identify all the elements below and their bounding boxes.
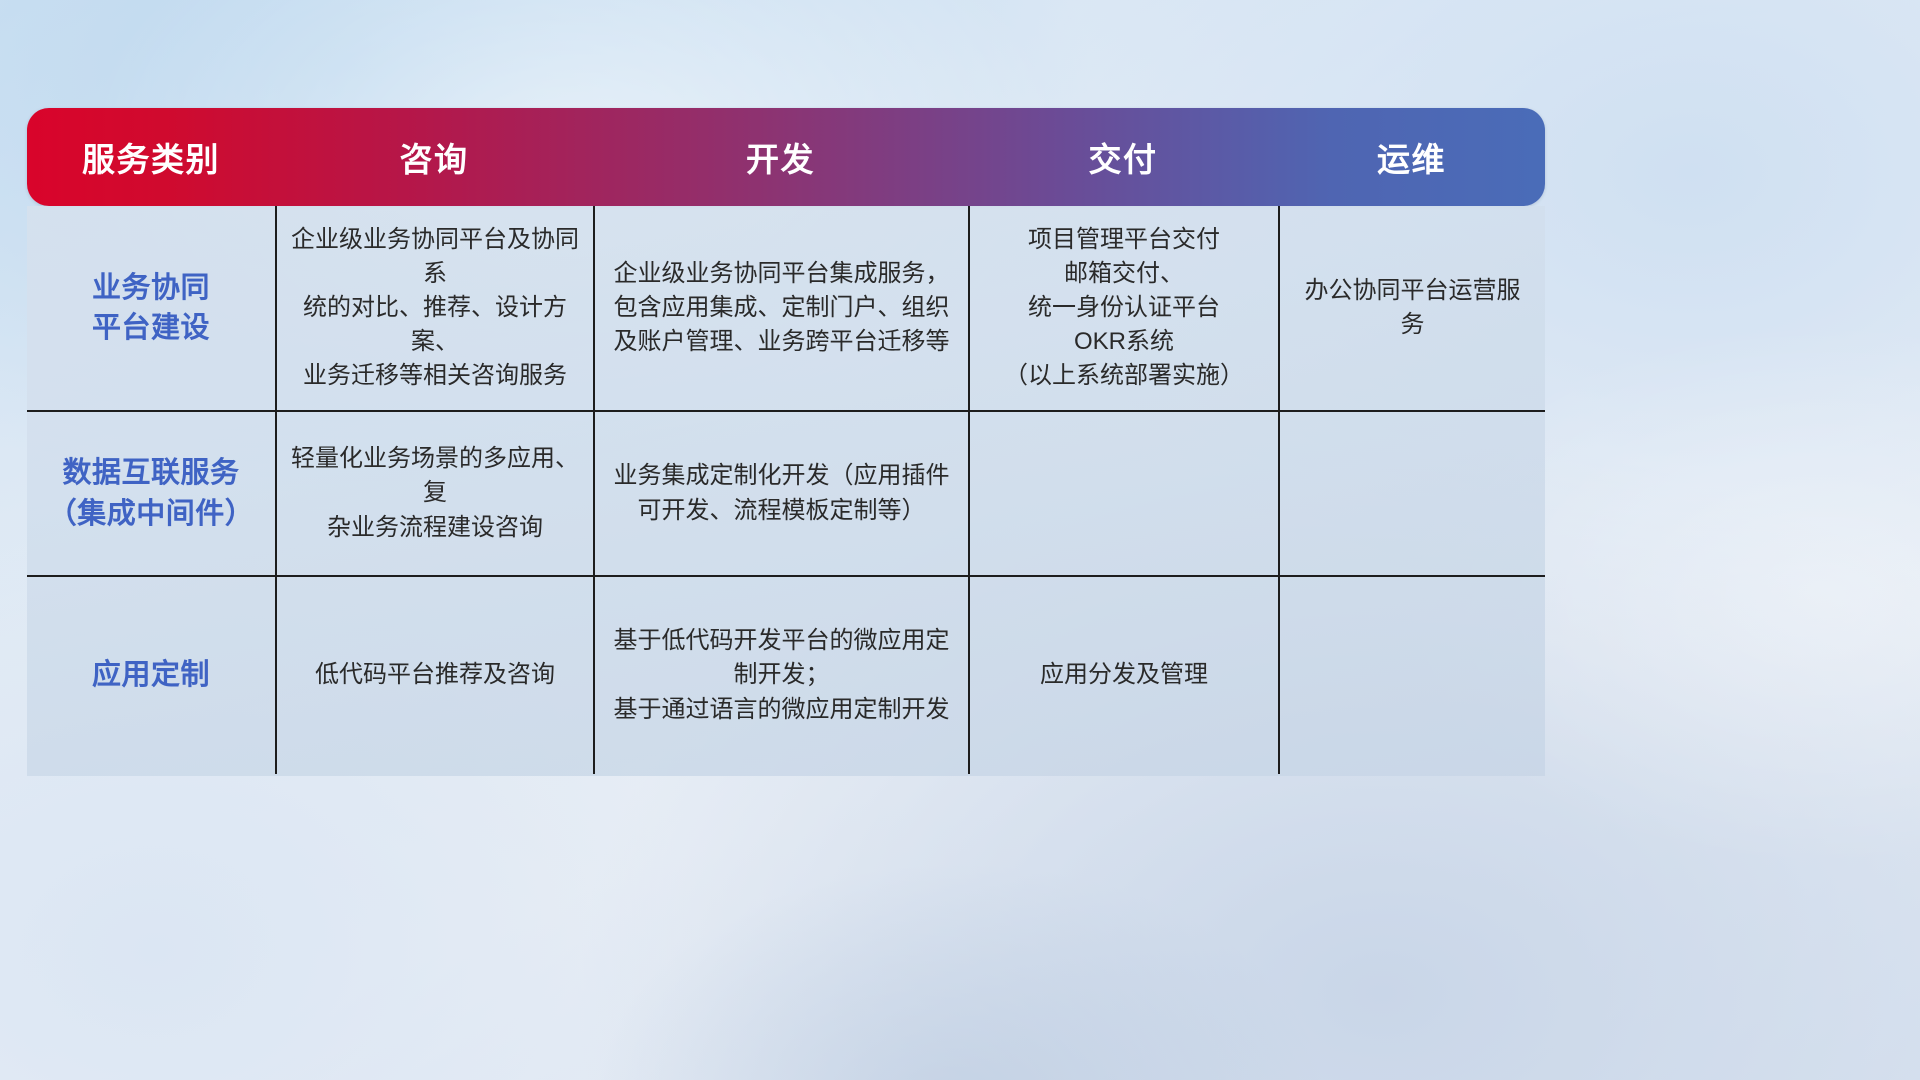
column-header-operations: 运维 xyxy=(1278,133,1545,181)
cell-consulting: 低代码平台推荐及咨询 xyxy=(275,577,593,774)
cell-consulting: 企业级业务协同平台及协同系 统的对比、推荐、设计方案、 业务迁移等相关咨询服务 xyxy=(275,206,593,410)
table-body: 业务协同 平台建设 企业级业务协同平台及协同系 统的对比、推荐、设计方案、 业务… xyxy=(27,206,1545,776)
cell-operations xyxy=(1278,412,1545,575)
column-header-category: 服务类别 xyxy=(27,133,275,181)
table-row: 应用定制 低代码平台推荐及咨询 基于低代码开发平台的微应用定 制开发； 基于通过… xyxy=(27,575,1545,774)
column-header-delivery: 交付 xyxy=(968,133,1278,181)
cell-delivery xyxy=(968,412,1278,575)
cell-development: 业务集成定制化开发（应用插件 可开发、流程模板定制等） xyxy=(593,412,968,575)
table-row: 业务协同 平台建设 企业级业务协同平台及协同系 统的对比、推荐、设计方案、 业务… xyxy=(27,206,1545,410)
cell-operations: 办公协同平台运营服务 xyxy=(1278,206,1545,410)
service-matrix-table: 服务类别 咨询 开发 交付 运维 业务协同 平台建设 企业级业务协同平台及协同系… xyxy=(27,108,1545,776)
cell-development: 基于低代码开发平台的微应用定 制开发； 基于通过语言的微应用定制开发 xyxy=(593,577,968,774)
row-label-application-customization: 应用定制 xyxy=(27,577,275,774)
cell-consulting: 轻量化业务场景的多应用、复 杂业务流程建设咨询 xyxy=(275,412,593,575)
table-row: 数据互联服务 （集成中间件） 轻量化业务场景的多应用、复 杂业务流程建设咨询 业… xyxy=(27,410,1545,575)
column-header-development: 开发 xyxy=(593,133,968,181)
row-label-data-interconnect: 数据互联服务 （集成中间件） xyxy=(27,412,275,575)
table-header-row: 服务类别 咨询 开发 交付 运维 xyxy=(27,108,1545,206)
cell-operations xyxy=(1278,577,1545,774)
cell-development: 企业级业务协同平台集成服务， 包含应用集成、定制门户、组织 及账户管理、业务跨平… xyxy=(593,206,968,410)
row-label-business-collaboration: 业务协同 平台建设 xyxy=(27,206,275,410)
cell-delivery: 应用分发及管理 xyxy=(968,577,1278,774)
column-header-consulting: 咨询 xyxy=(275,133,593,181)
cell-delivery: 项目管理平台交付 邮箱交付、 统一身份认证平台 OKR系统 （以上系统部署实施） xyxy=(968,206,1278,410)
